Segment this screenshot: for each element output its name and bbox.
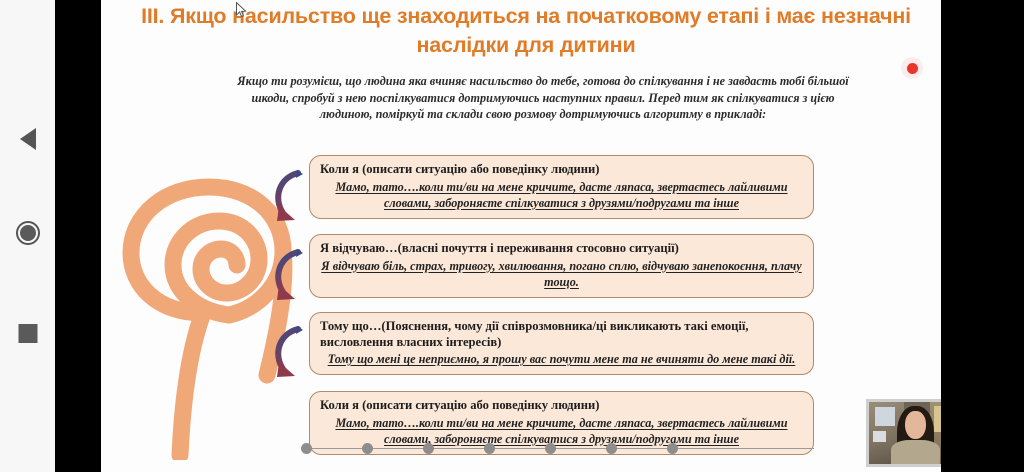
letterbox-left [55, 0, 101, 472]
step-heading: Коли я (описати ситуацію або поведінку л… [320, 398, 803, 414]
selection-handle[interactable] [484, 443, 495, 454]
letterbox-right [941, 0, 1024, 472]
record-dot-icon[interactable] [901, 57, 923, 79]
selection-handle[interactable] [545, 443, 556, 454]
selection-line [309, 448, 814, 449]
step-heading: Я відчуваю…(власні почуття і переживання… [320, 241, 803, 257]
screen-root: III. Якщо насильство ще знаходиться на п… [0, 0, 1024, 472]
selection-handle[interactable] [606, 443, 617, 454]
mouse-pointer-icon [236, 2, 247, 18]
presentation-slide[interactable]: III. Якщо насильство ще знаходиться на п… [101, 0, 941, 472]
intro-paragraph: Якщо ти розумієш, що людина яка вчиняє н… [233, 73, 853, 123]
video-person-body [891, 440, 939, 464]
selection-handle[interactable] [423, 443, 434, 454]
step-box[interactable]: Коли я (описати ситуацію або поведінку л… [309, 155, 814, 219]
selection-handle[interactable] [362, 443, 373, 454]
selection-handle[interactable] [301, 443, 312, 454]
video-bg-poster [873, 431, 886, 442]
recents-square-icon[interactable] [18, 324, 37, 343]
home-circle-icon[interactable] [16, 221, 40, 245]
video-person-face [905, 411, 925, 440]
step-body: Тому що мені це неприємно, я прошу вас п… [320, 351, 803, 367]
step-body: Мамо, тато….коли ти/ви на мене кричите, … [320, 415, 803, 447]
video-bg-poster [875, 407, 895, 426]
selection-handle[interactable] [667, 443, 678, 454]
record-dot-inner [907, 63, 918, 74]
step-box-selected[interactable]: Коли я (описати ситуацію або поведінку л… [309, 391, 814, 455]
back-triangle-icon[interactable] [20, 128, 36, 150]
step-box[interactable]: Тому що…(Пояснення, чому дії співрозмовн… [309, 312, 814, 375]
step-body: Мамо, тато….коли ти/ви на мене кричите, … [320, 179, 803, 211]
step-body: Я відчуваю біль, страх, тривогу, хвилюва… [320, 258, 803, 290]
android-navigation-bar [0, 0, 55, 472]
step-heading: Коли я (описати ситуацію або поведінку л… [320, 162, 803, 178]
step-heading: Тому що…(Пояснення, чому дії співрозмовн… [320, 319, 803, 350]
step-box[interactable]: Я відчуваю…(власні почуття і переживання… [309, 234, 814, 298]
page-title: III. Якщо насильство ще знаходиться на п… [131, 2, 921, 60]
